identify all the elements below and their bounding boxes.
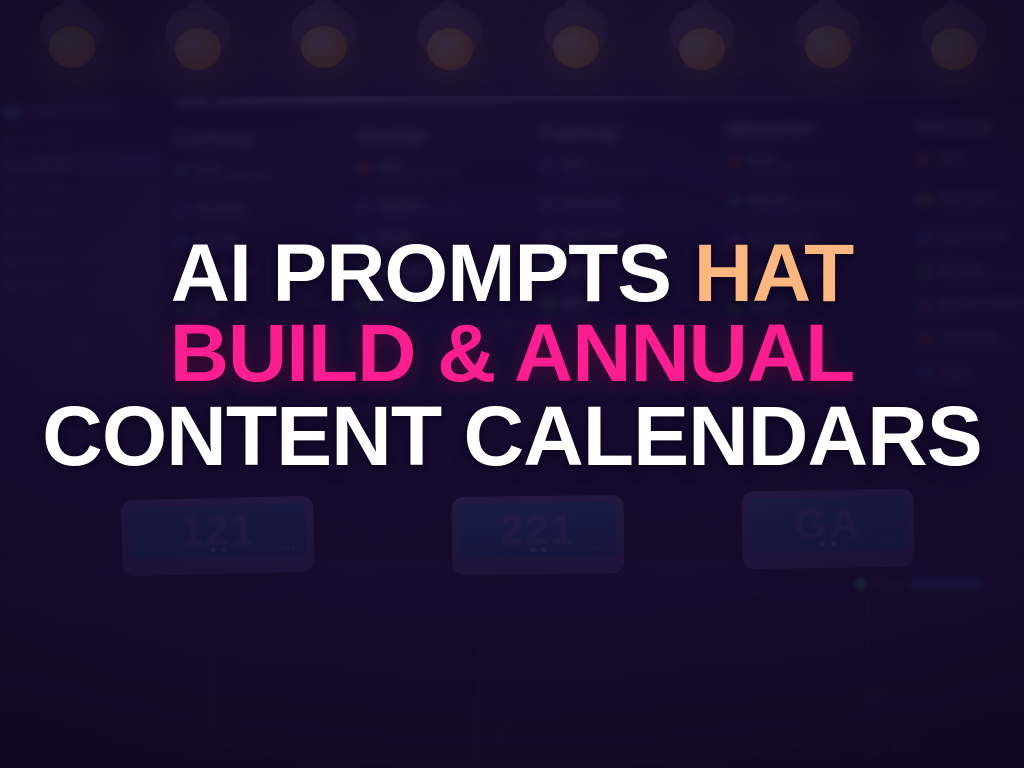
headline: AI PROMPTS HAT BUILD & ANNUAL CONTENT CA… xyxy=(0,236,1024,475)
headline-line-1: AI PROMPTS HAT xyxy=(0,236,1024,312)
headline-word: CONTENT CALENDARS xyxy=(42,397,982,475)
headline-word: AI PROMPTS xyxy=(171,236,671,312)
headline-word: BUILD & ANNUAL xyxy=(170,316,854,392)
thumbnail-scene: Ptsweiso Oillauive Wrokspace Daeret Koan… xyxy=(0,0,1024,768)
headline-word: HAT xyxy=(694,236,853,312)
headline-line-2: BUILD & ANNUAL xyxy=(0,316,1024,392)
headline-line-3: CONTENT CALENDARS xyxy=(0,397,1024,475)
